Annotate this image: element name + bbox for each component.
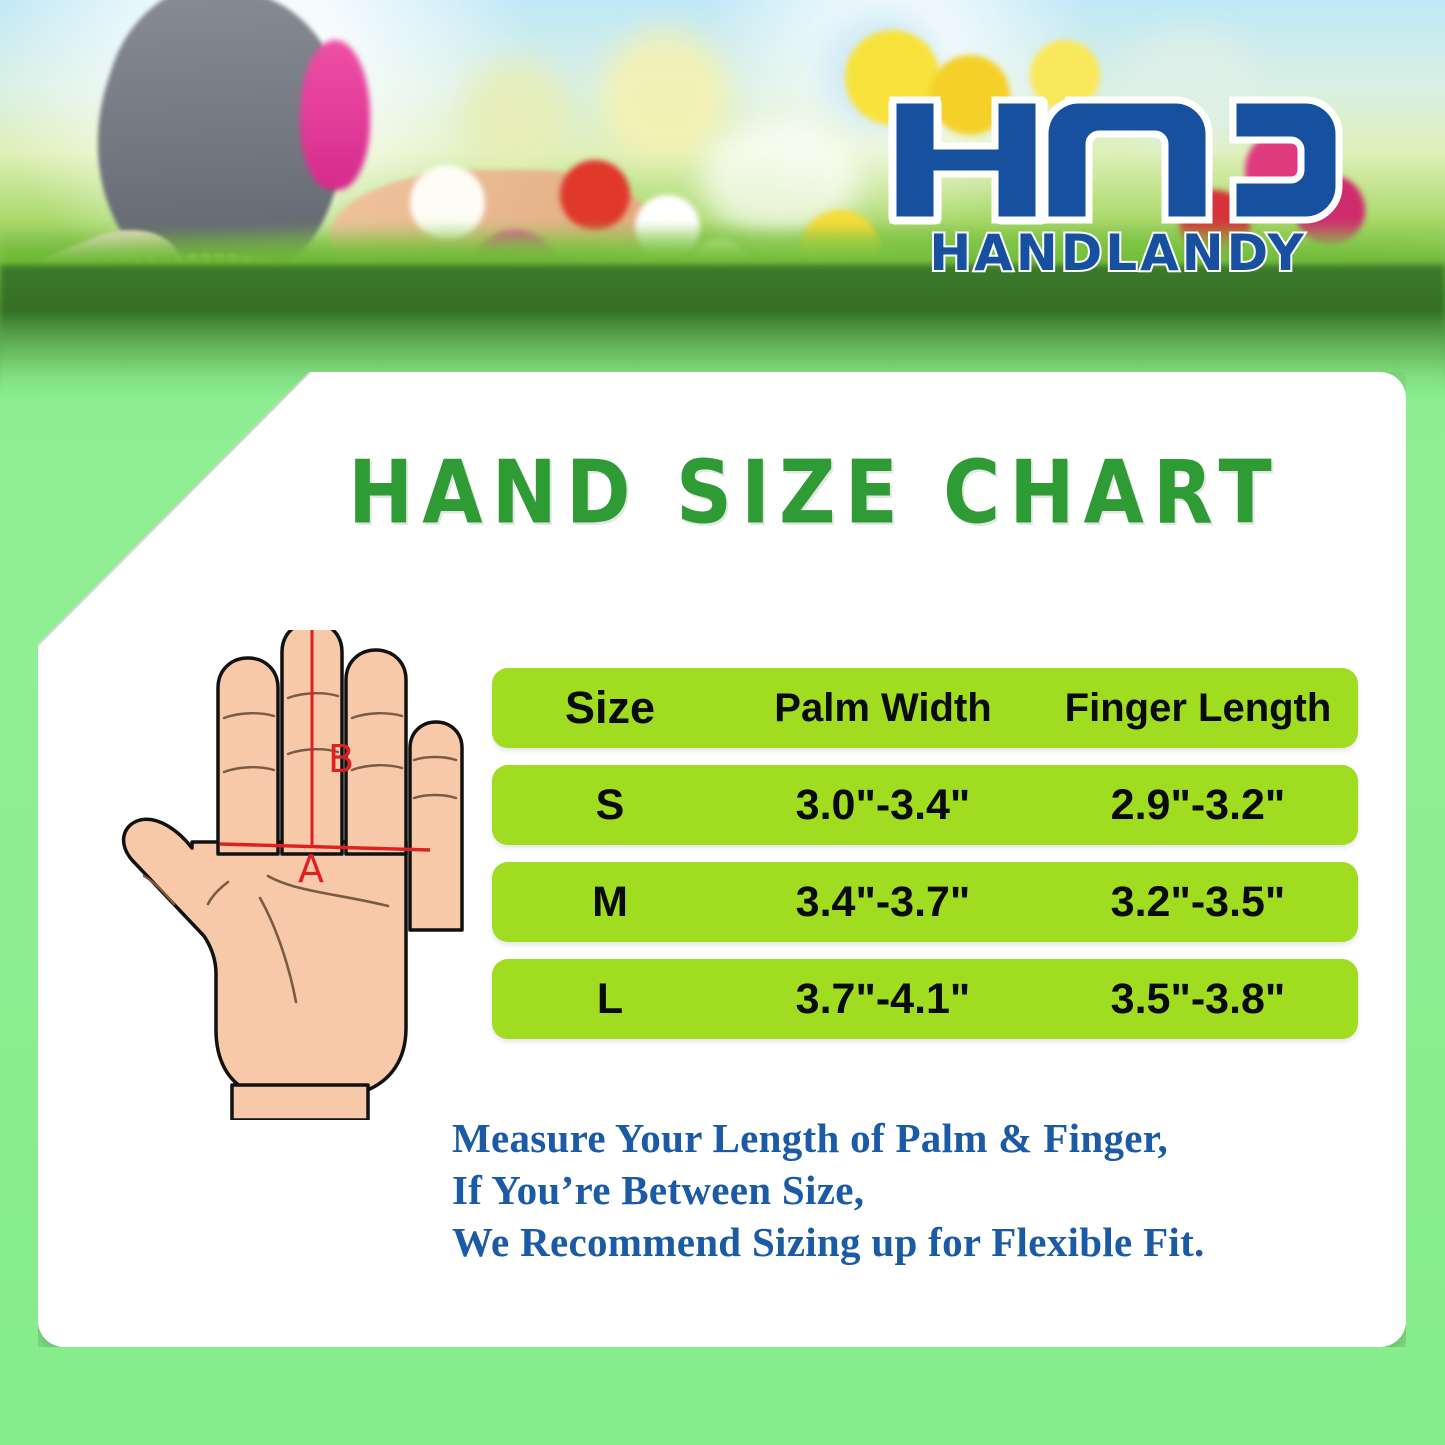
- wrist-shape: [232, 1085, 368, 1120]
- bokeh-blob: [600, 30, 730, 160]
- sizing-note: Measure Your Length of Palm & Finger, If…: [452, 1112, 1205, 1268]
- cell-finger-length: 3.5"-3.8": [1038, 975, 1358, 1024]
- header-palm-width: Palm Width: [728, 686, 1038, 731]
- cell-palm-width: 3.0"-3.4": [728, 781, 1038, 830]
- label-a: A: [298, 847, 324, 891]
- logo-letter-d: [1233, 100, 1339, 220]
- table-row: M 3.4"-3.7" 3.2"-3.5": [492, 862, 1358, 942]
- cell-finger-length: 2.9"-3.2": [1038, 781, 1358, 830]
- header-size: Size: [492, 682, 728, 734]
- bokeh-blob: [460, 60, 570, 170]
- ring-finger: [346, 650, 406, 854]
- note-line-3: We Recommend Sizing up for Flexible Fit.: [452, 1216, 1205, 1268]
- hand-diagram-svg: B A: [100, 630, 490, 1120]
- cell-finger-length: 3.2"-3.5": [1038, 878, 1358, 927]
- page-title: HAND SIZE CHART: [348, 443, 1281, 544]
- table-row: L 3.7"-4.1" 3.5"-3.8": [492, 959, 1358, 1039]
- cell-palm-width: 3.4"-3.7": [728, 878, 1038, 927]
- logo-shape-n: [1045, 100, 1209, 220]
- note-line-1: Measure Your Length of Palm & Finger,: [452, 1112, 1205, 1164]
- logo-wordmark: HANDLANDY: [929, 224, 1306, 278]
- palm-shape: [124, 819, 406, 1092]
- cell-size: L: [492, 975, 728, 1024]
- cell-palm-width: 3.7"-4.1": [728, 975, 1038, 1024]
- hand-measurement-diagram: B A: [100, 630, 490, 1120]
- index-finger: [218, 658, 278, 854]
- pinky-finger: [410, 722, 462, 930]
- note-line-2: If You’re Between Size,: [452, 1164, 1205, 1216]
- table-header-row: Size Palm Width Finger Length: [492, 668, 1358, 748]
- logo-letter-h: [893, 100, 1039, 220]
- cell-size: M: [492, 878, 728, 927]
- label-b: B: [328, 737, 354, 781]
- brand-logo: HANDLANDY: [883, 88, 1353, 278]
- flower-red: [560, 160, 630, 230]
- cell-size: S: [492, 781, 728, 830]
- flower-pink: [300, 40, 370, 190]
- header-finger-length: Finger Length: [1038, 686, 1358, 731]
- table-row: S 3.0"-3.4" 2.9"-3.2": [492, 765, 1358, 845]
- size-chart-table: Size Palm Width Finger Length S 3.0"-3.4…: [492, 668, 1358, 1056]
- handlandy-logo-svg: HANDLANDY: [883, 88, 1353, 278]
